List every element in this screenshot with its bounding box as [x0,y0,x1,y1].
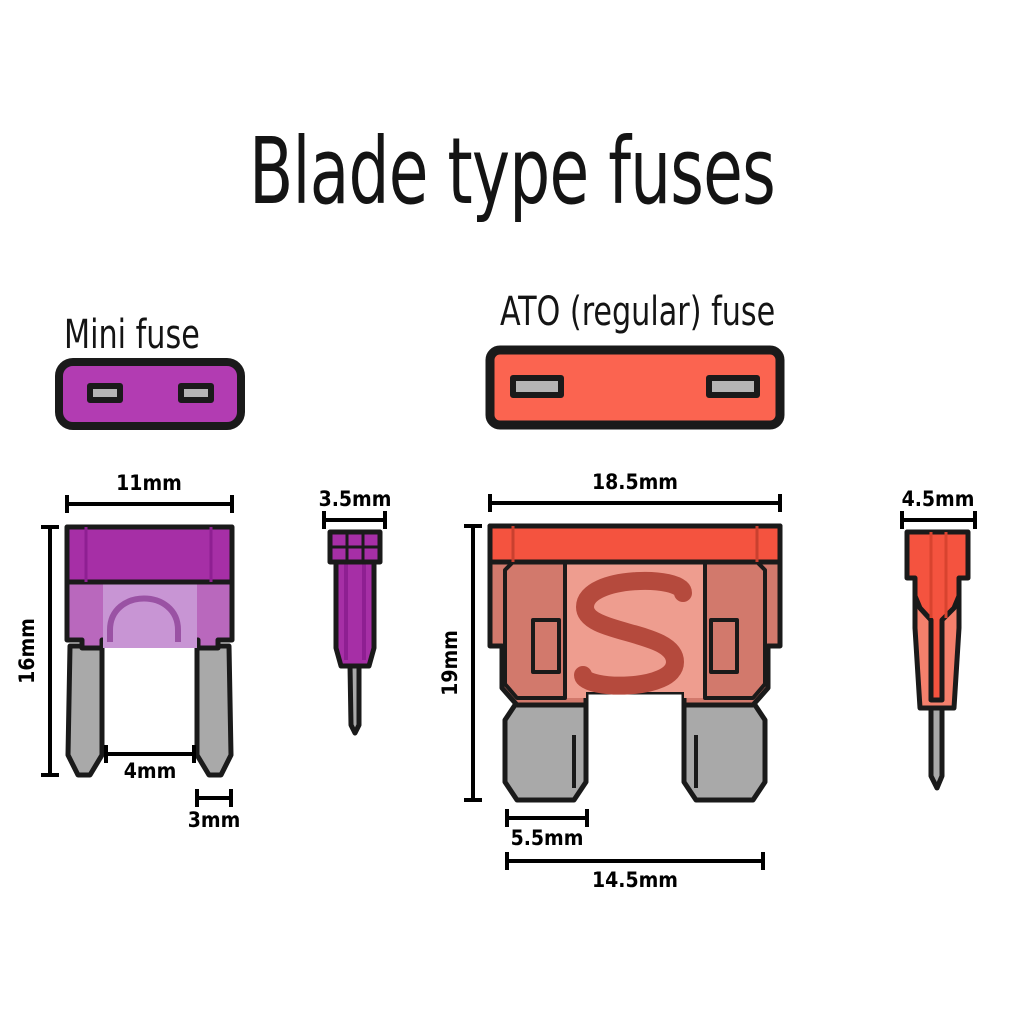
mini-fuse-top-view [55,358,245,430]
dimension-mini-blade-width: 3mm [188,789,241,832]
dimension-label-ato-blade-width: 5.5mm [511,826,584,850]
mini-top-band [67,527,232,582]
ato-side-blade [931,704,942,788]
ato-fuse-top-view [485,345,785,430]
section-label-mini: Mini fuse [64,315,200,355]
page-title: Blade type fuses [113,126,912,218]
mini-terminal-slot-right [181,386,211,400]
dimension-ato-thickness: 4.5mm [902,487,975,529]
ato-terminal-slot-right [709,378,757,395]
mini-terminal-slot-left [90,386,120,400]
dimension-mini-width: 11mm [67,471,232,513]
dimension-ato-blade-width: 5.5mm [507,809,587,850]
ato-terminal-slot-left [513,378,561,395]
mini-fuse-side-view: 3.5mm [295,470,425,800]
dimension-label-ato-height: 19mm [438,630,462,696]
dimension-label-mini-thickness: 3.5mm [319,487,392,511]
mini-blade-right [197,646,231,775]
section-label-ato: ATO (regular) fuse [500,292,775,332]
dimension-mini-blade-gap: 4mm [106,745,194,783]
mini-window [103,582,197,648]
mini-fuse-front-view: 11mm 16mm 4mm [10,470,275,840]
dimension-label-ato-thickness: 4.5mm [902,487,975,511]
dimension-ato-height: 19mm [438,526,482,800]
dimension-label-mini-height: 16mm [15,618,39,684]
dimension-label-ato-blade-span: 14.5mm [592,868,678,892]
ato-fuse-front-view: 18.5mm 19mm [435,470,805,890]
ato-fuse-side-view: 4.5mm [880,468,1020,813]
dimension-label-mini-blade-width: 3mm [188,808,241,832]
dimension-ato-width: 18.5mm [490,470,780,512]
dimension-mini-thickness: 3.5mm [319,487,392,529]
mini-side-blade [350,665,359,733]
dimension-label-mini-blade-gap: 4mm [124,759,177,783]
dimension-mini-height: 16mm [15,527,59,775]
dimension-label-ato-width: 18.5mm [592,470,678,494]
dimension-ato-blade-span: 14.5mm [507,852,763,892]
dimension-label-mini-width: 11mm [116,471,182,495]
fuse-diagram-page: Blade type fuses Mini fuse ATO (regular)… [0,0,1024,1024]
ato-top-band [490,526,780,562]
mini-blade-left [68,646,102,775]
